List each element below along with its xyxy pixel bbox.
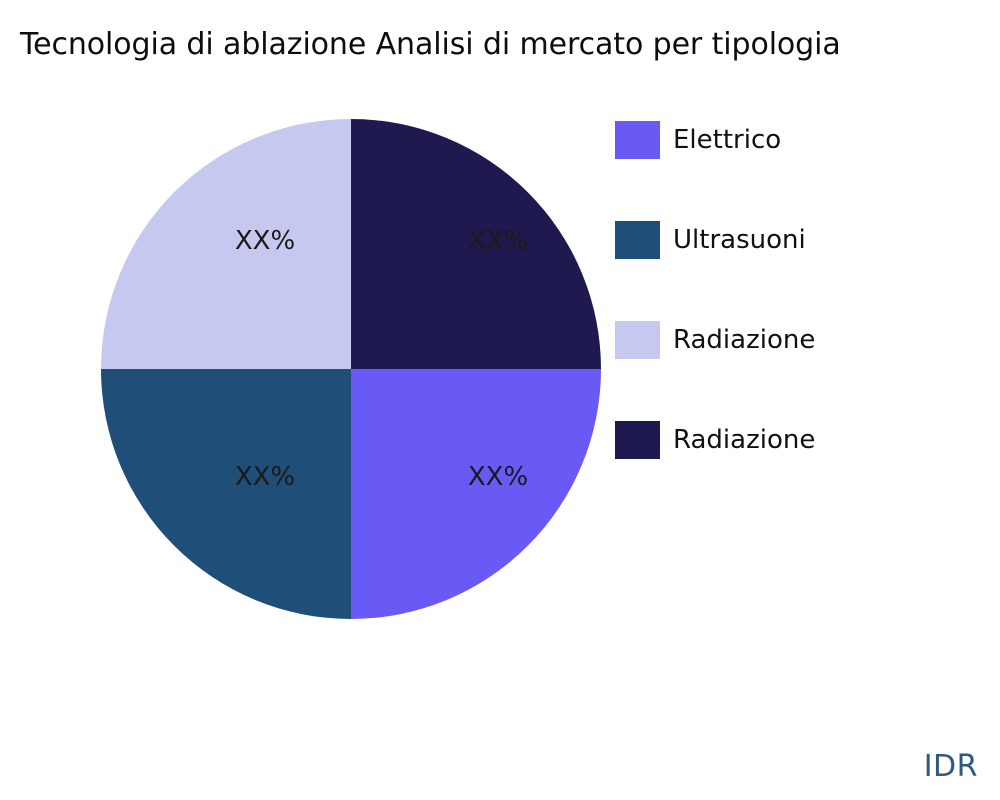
legend-label-radiazione-dark: Radiazione: [673, 421, 815, 459]
legend-item-radiazione-light[interactable]: Radiazione: [615, 321, 975, 421]
watermark-idr: IDR: [924, 749, 978, 784]
legend-swatch-icon-elettrico: [615, 121, 660, 159]
pie-chart-svg: [101, 119, 601, 619]
legend-label-radiazione-light: Radiazione: [673, 321, 815, 359]
pie-slice-bottom-left[interactable]: [101, 369, 351, 619]
legend-item-radiazione-dark[interactable]: Radiazione: [615, 421, 975, 521]
legend-item-ultrasuoni[interactable]: Ultrasuoni: [615, 221, 975, 321]
legend-item-elettrico[interactable]: Elettrico: [615, 121, 975, 221]
chart-legend: Elettrico Ultrasuoni Radiazione Radiazio…: [615, 121, 975, 521]
chart-page: Tecnologia di ablazione Analisi di merca…: [0, 0, 1000, 800]
pie-slice-bottom-right[interactable]: [351, 369, 601, 619]
page-title: Tecnologia di ablazione Analisi di merca…: [20, 26, 990, 64]
legend-swatch-icon-radiazione-dark: [615, 421, 660, 459]
legend-label-ultrasuoni: Ultrasuoni: [673, 221, 806, 259]
legend-swatch-icon-radiazione-light: [615, 321, 660, 359]
pie-slice-top-right[interactable]: [351, 119, 601, 369]
pie-chart: XX% XX% XX% XX%: [101, 119, 601, 619]
legend-label-elettrico: Elettrico: [673, 121, 781, 159]
legend-swatch-icon-ultrasuoni: [615, 221, 660, 259]
pie-slice-top-left[interactable]: [101, 119, 351, 369]
